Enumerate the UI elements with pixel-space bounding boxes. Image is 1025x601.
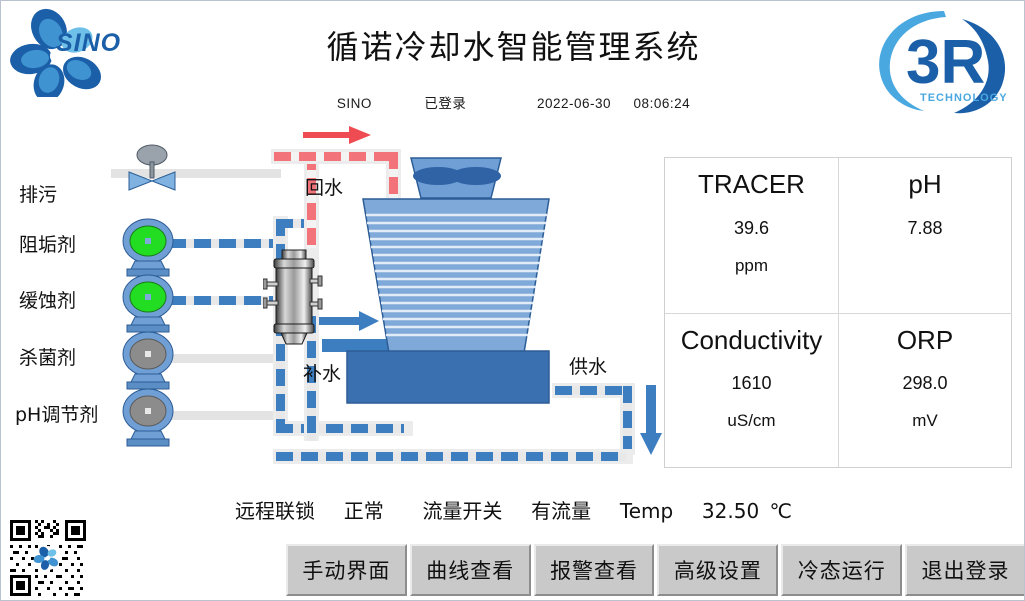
supply-pipe-right [623,386,632,454]
return-flow-arrow-icon [303,123,373,147]
pipe-antiscalant [169,239,284,248]
reading-tracer-name: TRACER [698,168,805,201]
current-time: 08:06:24 [634,96,691,111]
supply-pipe-top [555,386,623,395]
main-loop-pipe [276,452,626,461]
logged-user: SINO [337,96,372,111]
pump-antiscalant[interactable] [119,217,177,277]
logout-button[interactable]: 退出登录 [905,544,1025,596]
cooling-tower [341,153,556,413]
temp-label: Temp [620,499,673,523]
reading-conductivity[interactable]: Conductivity 1610 uS/cm [665,313,838,468]
hmi-screen: SINO 循诺冷却水智能管理系统 SINO 已登录 2022-06-30 08:… [0,0,1025,601]
reading-orp-name: ORP [897,324,953,357]
reading-conductivity-unit: uS/cm [727,411,775,431]
reading-tracer[interactable]: TRACER 39.6 ppm [665,158,838,313]
temp-unit: ℃ [770,499,792,523]
login-status: 已登录 [424,96,466,111]
label-makeup-water: 补水 [303,359,341,386]
sidestream-bottom [276,424,404,433]
reading-orp-unit: mV [912,411,938,431]
current-date: 2022-06-30 [537,96,611,111]
remote-interlock-label: 远程联锁 [235,499,315,523]
reading-conductivity-name: Conductivity [681,324,823,357]
svg-text:TECHNOLOGY: TECHNOLOGY [920,92,1008,104]
reading-orp-value: 298.0 [902,373,947,394]
reading-ph[interactable]: pH 7.88 [838,158,1011,313]
heat-exchanger [263,249,325,349]
flow-switch-label: 流量开关 [422,499,502,523]
label-supply-water: 供水 [569,352,607,379]
bottom-button-bar: 手动界面 曲线查看 报警查看 高级设置 冷态运行 退出登录 [286,544,1025,596]
remote-interlock-value: 正常 [344,499,384,523]
qr-code [7,517,89,599]
pump-biocide[interactable] [119,330,177,390]
reading-orp[interactable]: ORP 298.0 mV [838,313,1011,468]
process-flow-diagram: 回水 [1,121,666,486]
advanced-settings-button[interactable]: 高级设置 [657,544,778,596]
reading-tracer-value: 39.6 [734,218,769,239]
exchanger-inlet-red [307,153,316,248]
pipe-ph [169,411,284,420]
pipe-biocide [169,354,284,363]
alarm-view-button[interactable]: 报警查看 [534,544,655,596]
flow-switch-value: 有流量 [531,499,591,523]
vendor-3r-logo: 3R TECHNOLOGY [866,3,1016,118]
label-return-water: 回水 [305,173,343,200]
reading-ph-value: 7.88 [907,218,942,239]
temp-value: 32.50 [702,499,759,523]
svg-text:3R: 3R [906,28,985,97]
manual-interface-button[interactable]: 手动界面 [286,544,407,596]
pump-ph-adjuster[interactable] [119,387,177,447]
supply-flow-arrow-icon [639,385,663,457]
pump-corrosion-inhibitor[interactable] [119,273,177,333]
trend-view-button[interactable]: 曲线查看 [410,544,531,596]
reading-tracer-unit: ppm [735,256,768,276]
reading-conductivity-value: 1610 [731,373,771,394]
readings-panel: TRACER 39.6 ppm pH 7.88 Conductivity 161… [664,157,1012,468]
status-bar: 远程联锁 正常 流量开关 有流量 Temp 32.50 ℃ [1,495,1025,524]
blowdown-valve[interactable] [123,144,185,194]
reading-ph-name: pH [908,168,941,201]
cold-start-button[interactable]: 冷态运行 [781,544,902,596]
